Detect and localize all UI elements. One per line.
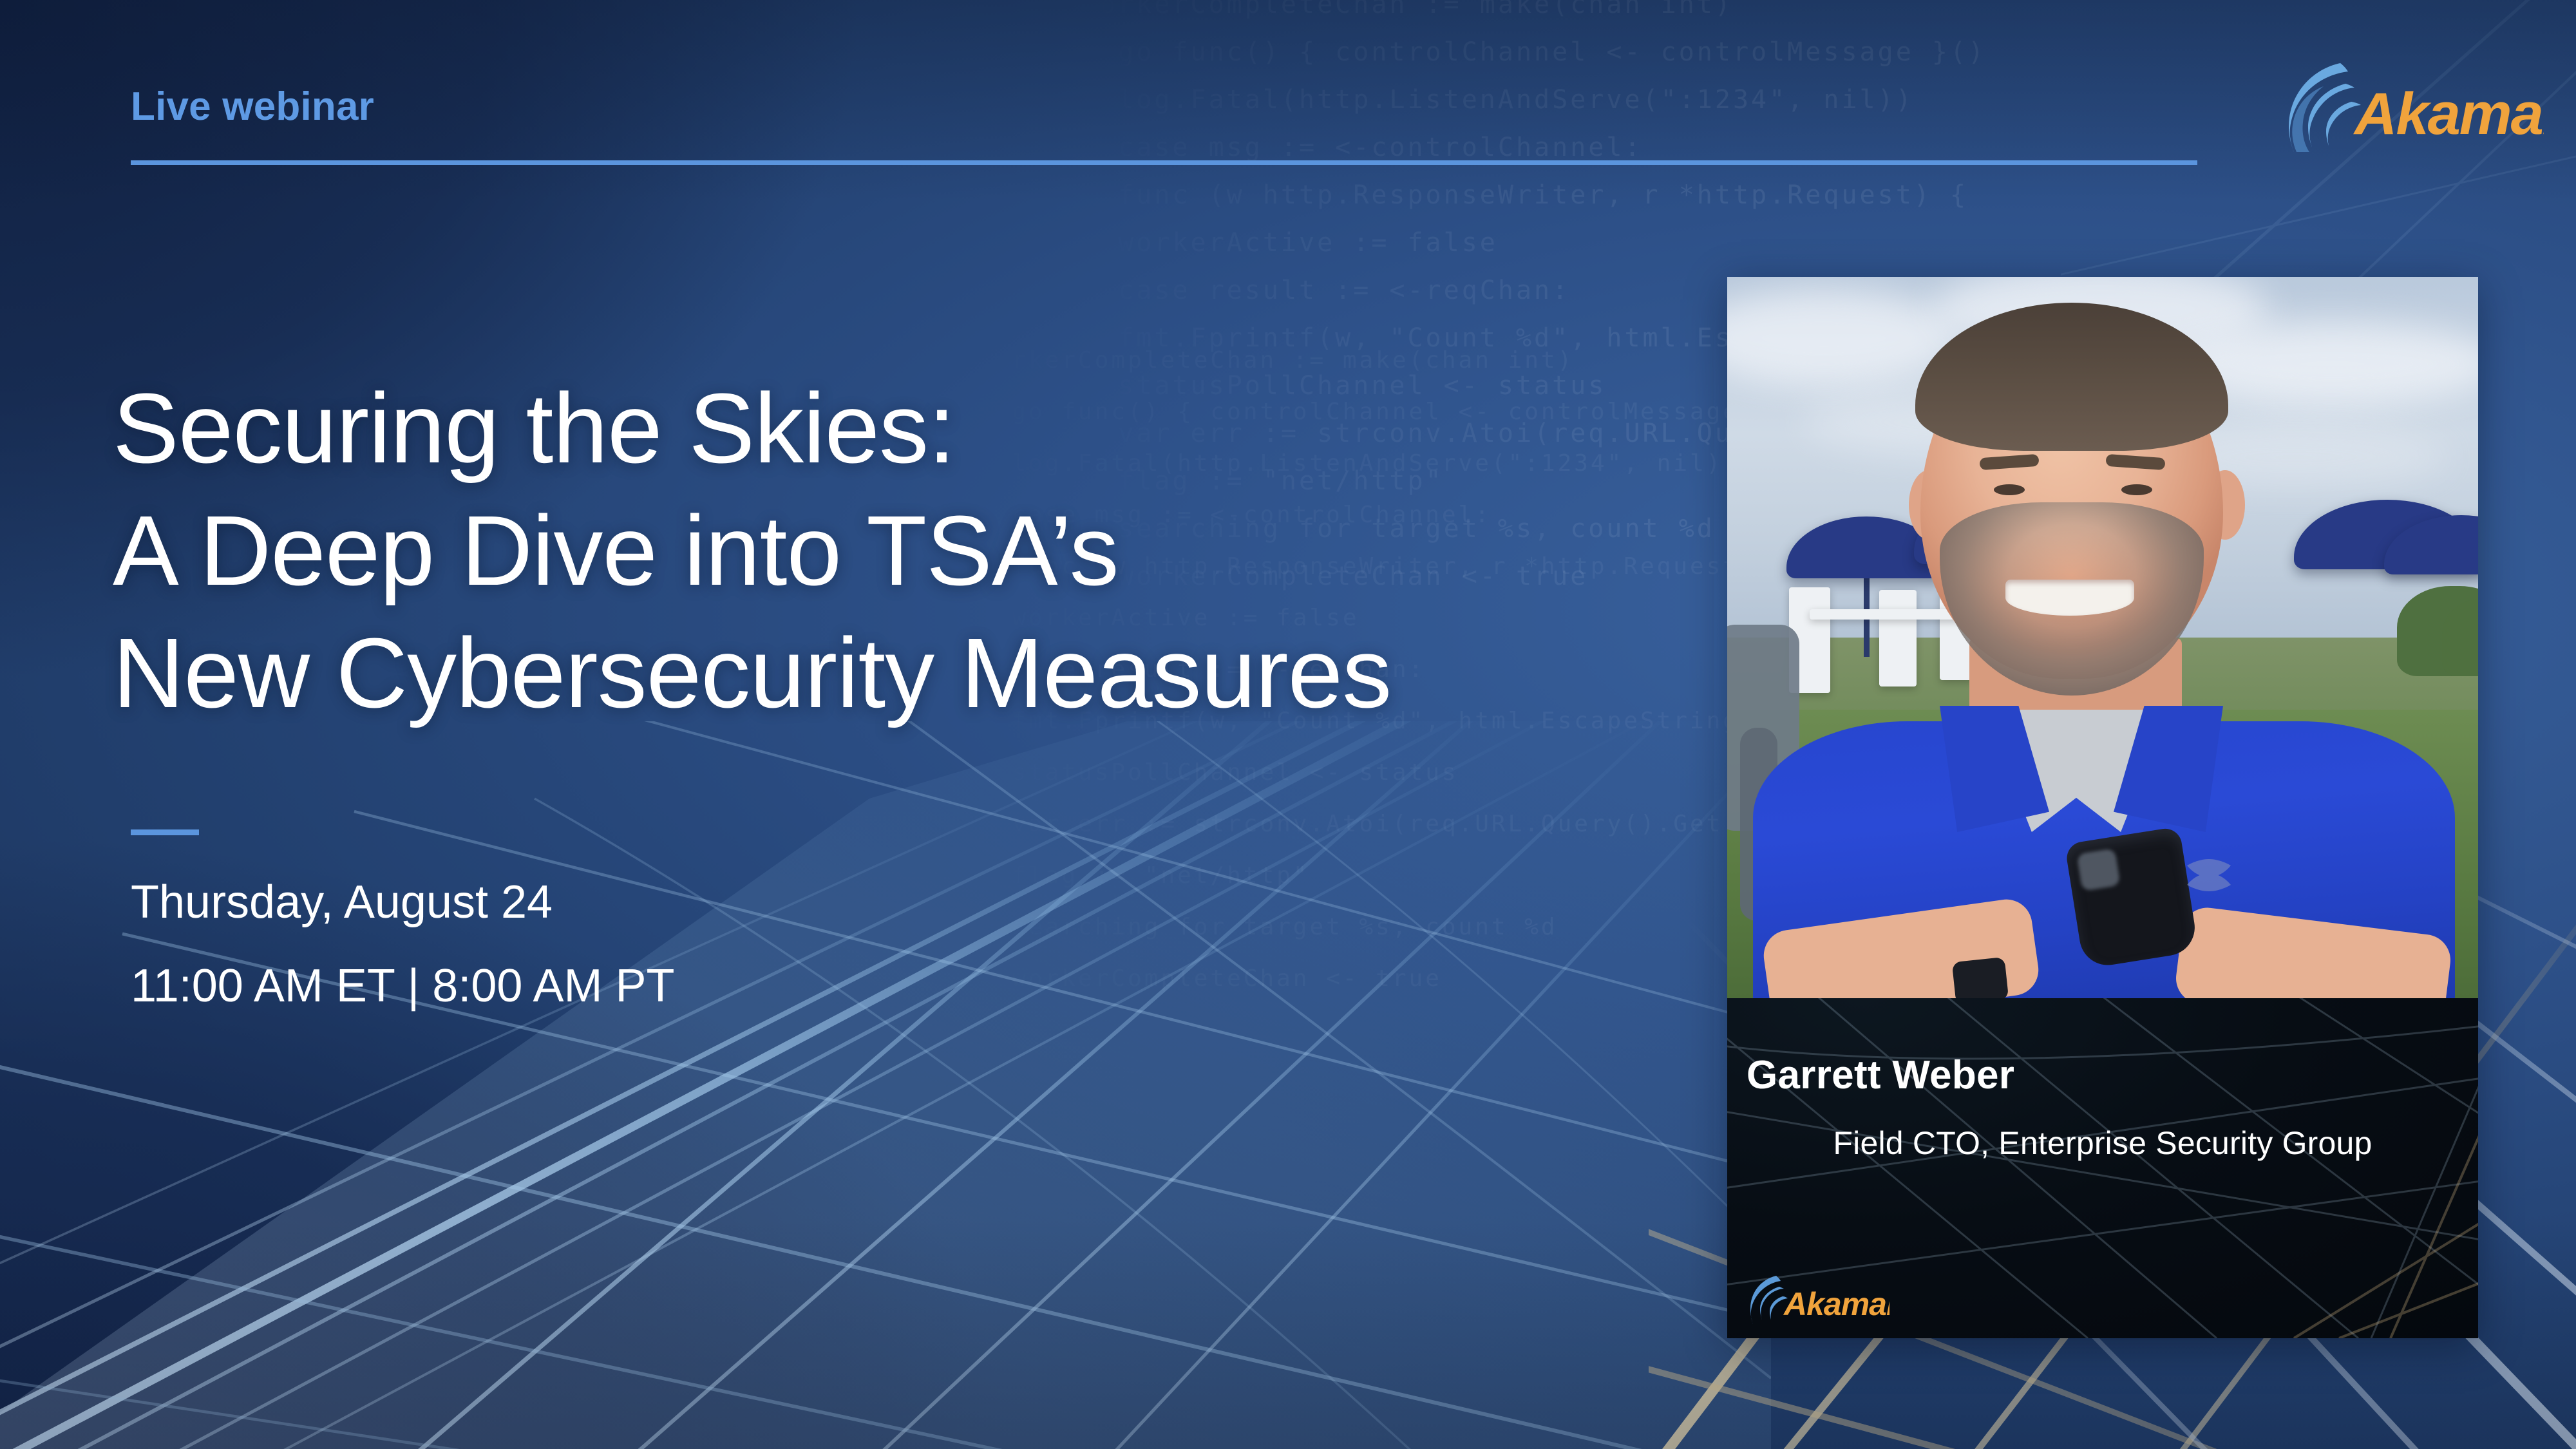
akamai-wave-icon (2289, 63, 2361, 152)
page-title-line-3: New Cybersecurity Measures (113, 612, 1761, 734)
photo-railing-post (1879, 590, 1917, 687)
svg-text:Akamai: Akamai (2353, 81, 2544, 147)
akamai-wave-icon (1750, 1276, 1788, 1324)
photo-eye (2121, 484, 2152, 495)
title-divider-dash (131, 829, 199, 835)
akamai-logo: Akamai (2273, 55, 2544, 152)
speaker-card-edge-glow (1714, 277, 1727, 1338)
speaker-info-panel: Garrett Weber Field CTO, Enterprise Secu… (1727, 998, 2478, 1338)
webinar-promo-slide: workerCompleteChan := make(chan int) go … (0, 0, 2576, 1449)
speaker-photo (1727, 277, 2478, 998)
photo-sunglasses (2065, 826, 2199, 969)
page-title: Securing the Skies: A Deep Dive into TSA… (113, 367, 1761, 735)
photo-eye (1994, 484, 2025, 495)
speaker-name: Garrett Weber (1747, 1052, 2459, 1098)
akamai-wordmark: Akamai (2353, 81, 2544, 147)
photo-smile (2005, 580, 2134, 616)
akamai-wordmark-card: Akamai (1783, 1286, 1889, 1322)
page-title-line-1: Securing the Skies: (113, 367, 1761, 489)
speaker-card: Garrett Weber Field CTO, Enterprise Secu… (1727, 277, 2478, 1338)
header-divider (131, 160, 2197, 165)
speaker-title: Field CTO, Enterprise Security Group (1727, 1124, 2478, 1162)
eyebrow-live-webinar: Live webinar (131, 84, 374, 129)
photo-sunglasses-highlight (2076, 848, 2120, 891)
akamai-logo-card: Akamai (1744, 1273, 1889, 1324)
event-date: Thursday, August 24 (131, 879, 674, 925)
photo-watch (1952, 957, 2009, 998)
event-time: 11:00 AM ET | 8:00 AM PT (131, 963, 674, 1009)
page-title-line-2: A Deep Dive into TSA’s (113, 489, 1761, 612)
photo-shirt-logo-icon (2178, 857, 2240, 894)
event-details: Thursday, August 24 11:00 AM ET | 8:00 A… (131, 879, 674, 1009)
